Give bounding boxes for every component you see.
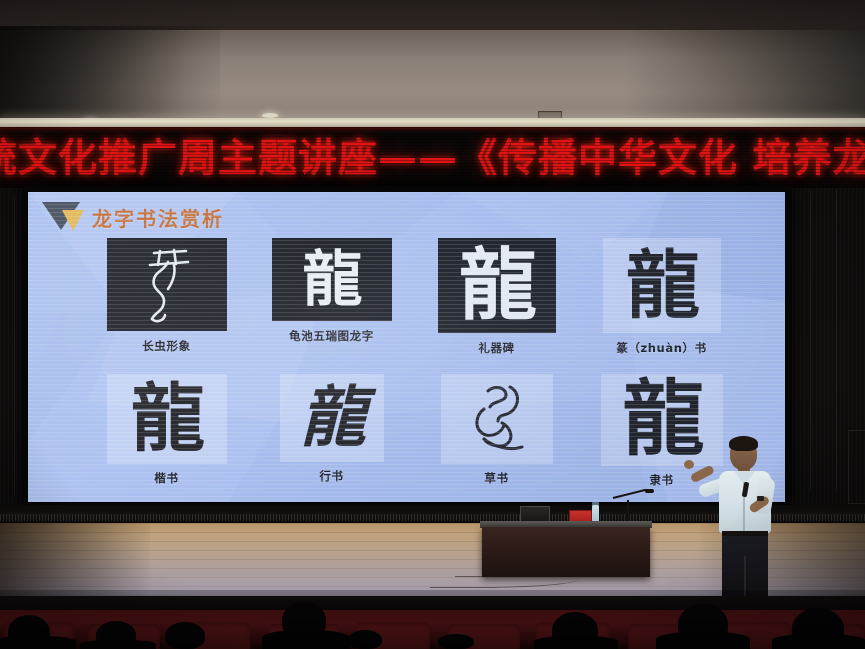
audience-shoulders [0, 636, 76, 649]
calligraphy-caption: 礼器碑 [478, 340, 514, 356]
presenter-belt [722, 531, 768, 536]
calligraphy-caption: 篆（zhuàn）书 [616, 340, 706, 356]
calligraphy-caption: 楷书 [154, 470, 178, 486]
glyph-cao-shu [458, 379, 536, 459]
calligraphy-item: 草书 [414, 374, 579, 494]
calligraphy-thumb [441, 374, 553, 464]
calligraphy-item: 龍 礼器碑 [414, 238, 579, 370]
glyph-zhuan-shu: 龍 [626, 249, 697, 323]
calligraphy-caption: 长虫形象 [142, 338, 190, 354]
calligraphy-item: 长虫形象 [84, 238, 249, 370]
calligraphy-item: 龍 龟池五瑞图龙字 [249, 238, 414, 370]
backdrop-panel-seam [810, 190, 811, 490]
calligraphy-thumb: 龍 [272, 238, 392, 321]
glyph-kai-shu: 龍 [131, 382, 202, 456]
lecture-table [482, 527, 650, 577]
backdrop-panel [848, 430, 865, 504]
calligraphy-grid: 长虫形象 龍 龟池五瑞图龙字 龍 礼器碑 龍 [84, 238, 744, 494]
calligraphy-thumb: 龍 [280, 374, 384, 462]
triangle-logo-icon [40, 200, 86, 234]
calligraphy-caption: 隶书 [649, 472, 673, 488]
microphone-head [645, 489, 654, 493]
calligraphy-row: 长虫形象 龍 龟池五瑞图龙字 龍 礼器碑 龍 [84, 238, 744, 370]
glyph-li-shu: 龍 [622, 379, 700, 461]
calligraphy-thumb: 龍 [438, 238, 556, 333]
audience-shoulders [772, 634, 865, 649]
presenter [690, 438, 800, 610]
presenter-wristwatch [757, 496, 764, 501]
audience-shoulders [262, 630, 350, 649]
backdrop-panel-seam [14, 195, 15, 495]
slide-header: 龙字书法赏析 [36, 196, 224, 238]
calligraphy-thumb [107, 238, 227, 331]
audience-head [348, 630, 382, 649]
presenter-hair [729, 436, 758, 451]
audience-head [438, 634, 474, 649]
audience-shoulders [534, 636, 618, 649]
calligraphy-item: 龍 篆（zhuàn）书 [579, 238, 744, 370]
auditorium-photo: 统文化推广周主题讲座——《传播中华文化 培养龙的传人 [0, 0, 865, 649]
glyph-liqi-bei: 龍 [459, 247, 534, 325]
ceiling-light-strip [0, 118, 865, 127]
led-banner: 统文化推广周主题讲座——《传播中华文化 培养龙的传人 [0, 127, 865, 191]
calligraphy-caption: 行书 [319, 468, 343, 484]
glyph-gui-chi: 龍 [303, 250, 361, 310]
audience-head [165, 622, 205, 649]
calligraphy-thumb: 龍 [107, 374, 227, 464]
led-scanlines [0, 127, 865, 191]
calligraphy-row: 龍 楷书 龍 行书 [84, 374, 744, 494]
projection-screen: 龙字书法赏析 [28, 192, 785, 502]
calligraphy-thumb: 龍 [603, 238, 721, 333]
calligraphy-caption: 草书 [484, 470, 508, 486]
calligraphy-item: 龍 楷书 [84, 374, 249, 494]
backdrop-panel-seam [836, 190, 837, 490]
calligraphy-caption: 龟池五瑞图龙字 [289, 328, 374, 344]
glyph-long-chong [130, 245, 204, 325]
audience-shoulders [80, 640, 156, 649]
audience-shoulders [656, 632, 750, 649]
slide-title: 龙字书法赏析 [92, 203, 224, 232]
glyph-xing-shu: 龍 [300, 385, 363, 451]
floor-shadow-left [0, 523, 150, 607]
presenter-hand-right [684, 460, 694, 469]
calligraphy-item: 龍 行书 [249, 374, 414, 494]
